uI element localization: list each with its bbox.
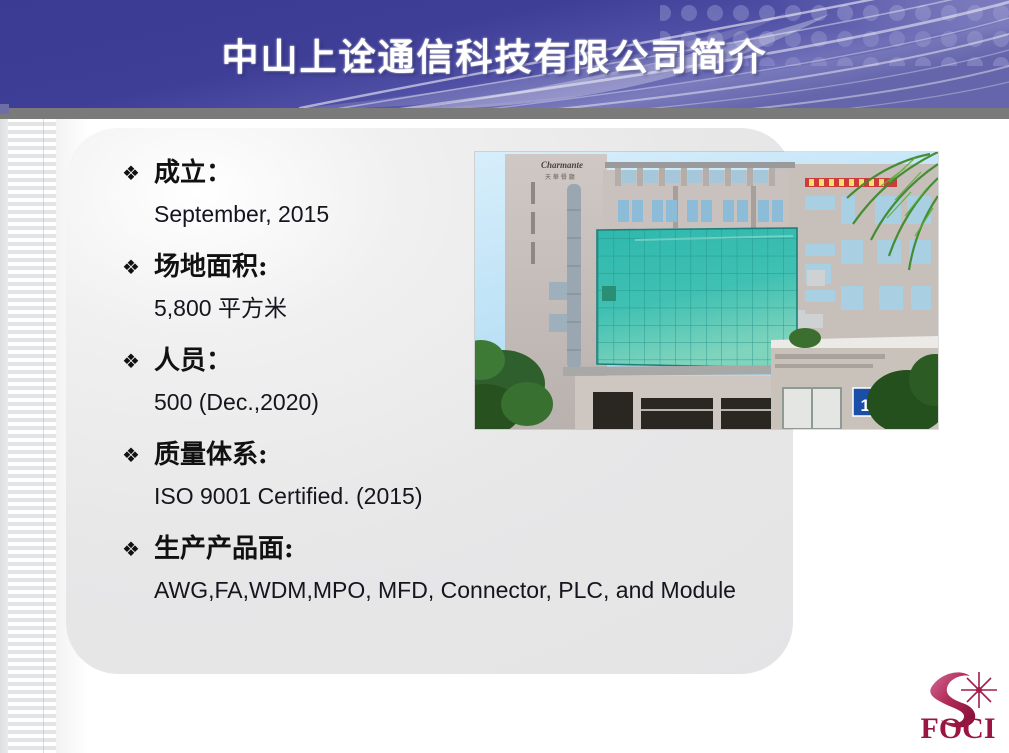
diamond-bullet-icon: ❖ bbox=[122, 434, 154, 476]
bullet-detail-product-lines: AWG,FA,WDM,MPO, MFD, Connector, PLC, and… bbox=[154, 572, 822, 608]
left-stripe-band bbox=[0, 118, 56, 753]
diamond-bullet-icon: ❖ bbox=[122, 246, 154, 288]
diamond-bullet-icon: ❖ bbox=[122, 528, 154, 570]
banner-left-corner-nub bbox=[0, 104, 9, 114]
left-stripe-edge bbox=[0, 118, 8, 753]
bullet-heading-product-lines: 生产产品面: bbox=[154, 528, 294, 570]
foci-logo-mark: FOCI bbox=[915, 662, 1001, 746]
slide-canvas: 中山上诠通信科技有限公司简介 ❖ 成立： September, 2015 ❖ 场… bbox=[0, 0, 1009, 753]
building-sign-subtext: 天 華 餐 廳 bbox=[545, 173, 575, 181]
building-photo-illustration: Charmante 天 華 餐 廳 bbox=[475, 152, 938, 429]
logo-wordmark: FOCI bbox=[921, 712, 996, 745]
bullet-heading-quality-system: 质量体系: bbox=[154, 434, 268, 476]
bullet-heading-headcount: 人员： bbox=[154, 340, 232, 382]
bullet-heading-founded: 成立： bbox=[154, 152, 232, 194]
title-banner: 中山上诠通信科技有限公司简介 bbox=[0, 0, 1009, 108]
list-item: ❖ 生产产品面: AWG,FA,WDM,MPO, MFD, Connector,… bbox=[122, 528, 822, 608]
list-item: ❖ 质量体系: ISO 9001 Certified. (2015) bbox=[122, 434, 822, 514]
diamond-bullet-icon: ❖ bbox=[122, 152, 154, 194]
page-title: 中山上诠通信科技有限公司简介 bbox=[0, 0, 1009, 108]
banner-underline-bar bbox=[0, 108, 1009, 119]
bullet-detail-quality-system: ISO 9001 Certified. (2015) bbox=[154, 478, 822, 514]
foci-logo: FOCI bbox=[915, 662, 1001, 746]
left-stripe-hairline bbox=[43, 118, 44, 753]
diamond-bullet-icon: ❖ bbox=[122, 340, 154, 382]
building-sign-text: Charmante bbox=[541, 160, 583, 170]
company-building-photo: Charmante 天 華 餐 廳 bbox=[475, 152, 938, 429]
bullet-heading-site-area: 场地面积: bbox=[154, 246, 268, 288]
